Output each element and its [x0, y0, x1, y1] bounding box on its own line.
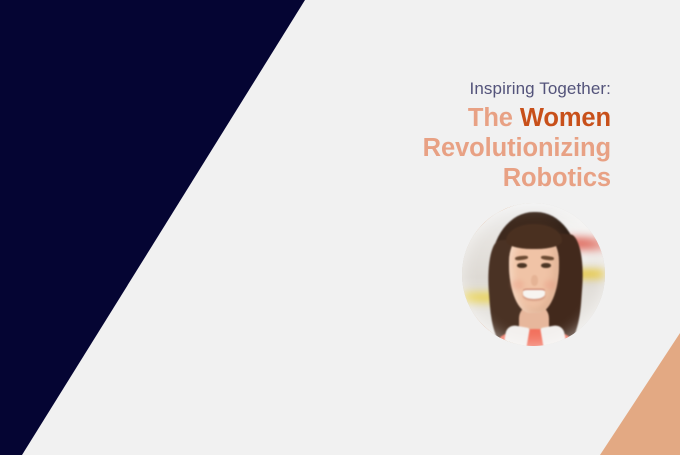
title-block: Inspiring Together: The Women Revolution…: [330, 78, 611, 193]
headline-line-1-plain: The: [468, 104, 520, 132]
slide-canvas: Inspiring Together: The Women Revolution…: [0, 0, 680, 455]
speaker-portrait: [462, 203, 605, 346]
eyebrow-text: Inspiring Together:: [330, 78, 611, 100]
salmon-corner-wedge: [600, 333, 680, 455]
hair-fringe: [506, 224, 562, 248]
headline-line-3: Robotics: [330, 163, 611, 193]
portrait-photo: [462, 203, 605, 346]
headline-line-1: The Women: [330, 103, 611, 133]
collar-left: [503, 324, 529, 346]
headline: The Women Revolutionizing Robotics: [330, 103, 611, 193]
eye-left: [517, 263, 527, 268]
portrait-subject: [462, 203, 605, 346]
smiling-mouth: [523, 290, 544, 299]
eye-right: [541, 263, 551, 268]
headline-line-2: Revolutionizing: [330, 133, 611, 163]
navy-diagonal-wedge: [0, 0, 310, 455]
headline-line-1-accent: Women: [520, 104, 611, 132]
